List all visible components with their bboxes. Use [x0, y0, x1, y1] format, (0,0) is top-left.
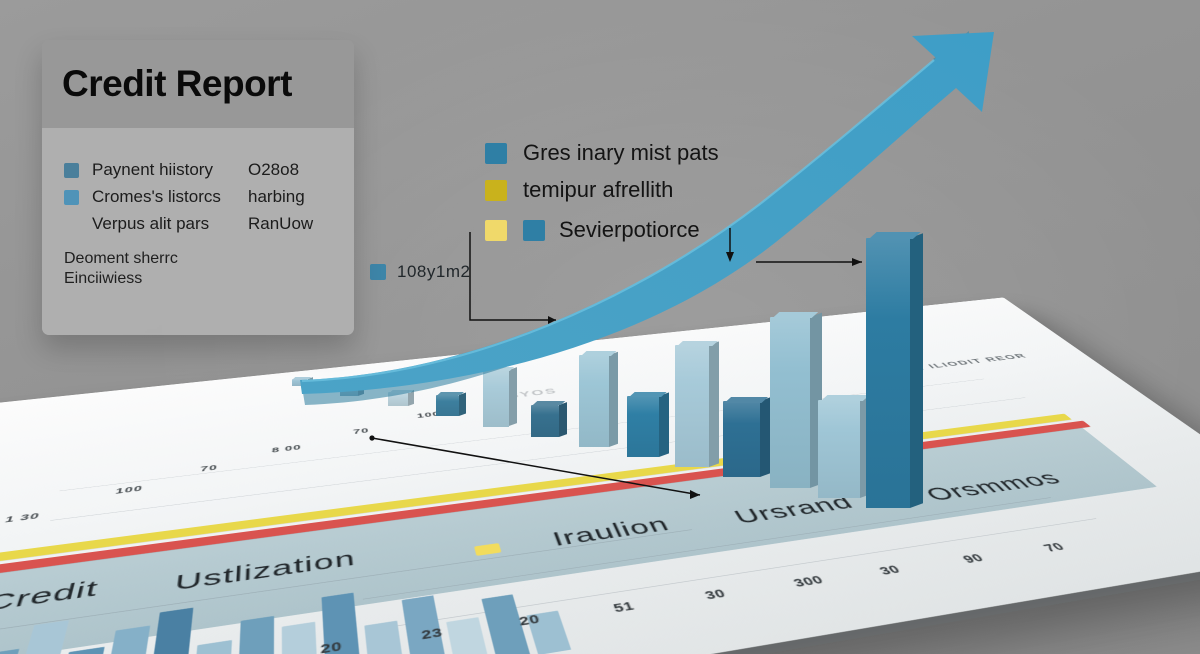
legend-swatch-icon — [370, 264, 386, 280]
axis-tick: 30 — [876, 563, 903, 577]
axis-tick: 300 — [791, 573, 826, 589]
axis-tick: 23 — [420, 625, 443, 641]
legend-label: ILIODIT REOR — [926, 352, 1030, 370]
legend-value: RanUow — [248, 214, 332, 234]
axis-tick: 70 — [1040, 541, 1068, 554]
legend-label: Cromes's listorcs — [92, 187, 248, 207]
legend-value: O28o8 — [248, 160, 332, 180]
axis-tick: 90 — [960, 552, 987, 566]
legend-label: Gres inary mist pats — [523, 140, 719, 166]
axis-tick: 20 — [320, 639, 343, 654]
band-word: Credit — [0, 576, 101, 617]
legend-item[interactable]: Gres inary mist pats — [485, 140, 815, 166]
chip-icon — [474, 543, 501, 556]
legend-item[interactable]: Sevierpotiorce — [485, 217, 815, 243]
legend-item[interactable]: temipur afrellith — [485, 177, 815, 203]
card-note: Einciiwiess — [64, 270, 332, 288]
legend-swatch-icon — [485, 180, 507, 201]
axis-tick: 70 — [200, 463, 218, 473]
sheet-surface: 1 30 100 70 8 00 70 100 8YOS ILIODIT REO… — [0, 297, 1200, 654]
axis-tick: 100 — [115, 484, 144, 496]
legend-swatch-placeholder-icon — [64, 217, 79, 232]
legend-label: 108y1m2 — [397, 262, 470, 282]
page-title: Credit Report — [62, 63, 292, 105]
legend-label: Paynent hiistory — [92, 160, 248, 180]
legend-swatch-icon — [907, 366, 924, 371]
legend-label: Sevierpotiorce — [559, 217, 700, 243]
card-legend-row[interactable]: Cromes's listorcs harbing — [64, 187, 332, 207]
card-legend-row[interactable]: Verpus alit pars RanUow — [64, 214, 332, 234]
legend-swatch-icon — [485, 143, 507, 164]
legend-value: harbing — [248, 187, 332, 207]
card-header: Credit Report — [42, 40, 354, 128]
card-note: Deoment sherrc — [64, 250, 332, 268]
legend-swatch-icon — [64, 163, 79, 178]
axis-tick: 70 — [353, 427, 370, 436]
sheet-corner-legend: ILIODIT REOR — [906, 352, 1030, 372]
axis-tick: 100 — [416, 410, 441, 419]
legend-swatch-secondary-icon — [523, 220, 545, 241]
credit-report-card[interactable]: Credit Report Paynent hiistory O28o8 Cro… — [42, 40, 354, 335]
card-body: Paynent hiistory O28o8 Cromes's listorcs… — [42, 128, 354, 335]
plot-mini-legend: 108y1m2 — [370, 262, 470, 282]
legend-swatch-icon — [64, 190, 79, 205]
legend-label: temipur afrellith — [523, 177, 673, 203]
legend-swatch-icon — [485, 220, 507, 241]
floating-legend: Gres inary mist pats temipur afrellith S… — [485, 140, 815, 254]
card-legend-row[interactable]: Paynent hiistory O28o8 — [64, 160, 332, 180]
legend-label: Verpus alit pars — [92, 214, 248, 234]
axis-tick: 1 30 — [4, 511, 42, 524]
mini-bar — [144, 608, 193, 654]
axis-tick: 8 00 — [272, 443, 302, 454]
screenshot-root: 1 30 100 70 8 00 70 100 8YOS ILIODIT REO… — [0, 0, 1200, 654]
